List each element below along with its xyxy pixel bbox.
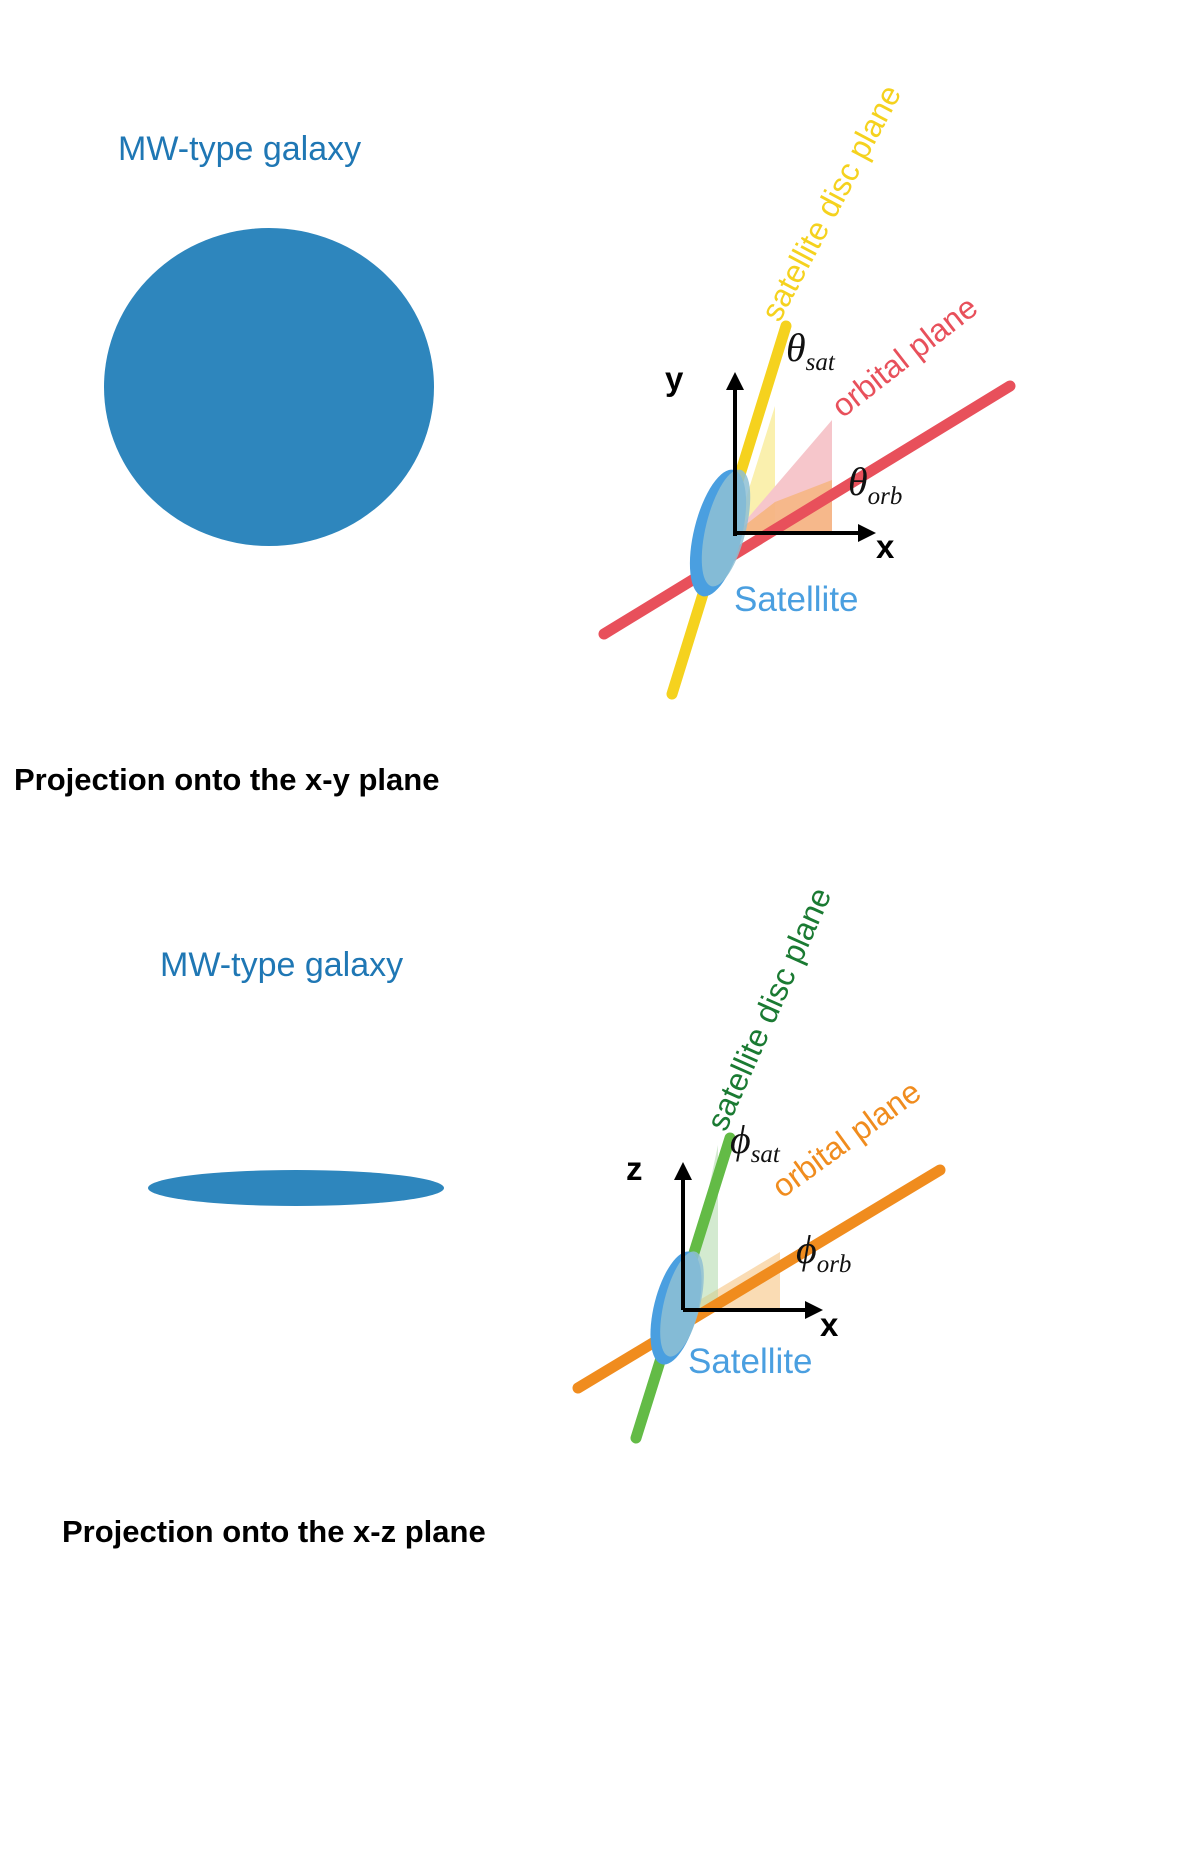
phi-sat-symbol: ϕsat [730, 1116, 780, 1169]
theta-orb-glyph: θ [848, 459, 868, 504]
x-axis-line-xy [735, 531, 860, 535]
phi-orb-glyph: ϕ [796, 1227, 817, 1272]
x-axis-arrowhead-xy [858, 524, 876, 542]
theta-orb-subscript: orb [868, 483, 903, 510]
theta-sat-symbol: θsat [786, 324, 835, 377]
caption-xy: Projection onto the x-y plane [14, 762, 439, 798]
x-axis-line-xz [683, 1308, 807, 1312]
satellite-label-xy: Satellite [734, 580, 859, 620]
z-axis-arrowhead [674, 1162, 692, 1180]
z-axis-line [681, 1178, 685, 1310]
y-axis-arrowhead [726, 372, 744, 390]
y-axis-label: y [665, 360, 683, 398]
panel-xz-projection: MW-type galaxy z x satellite disc plane … [0, 820, 1200, 1857]
y-axis-line [733, 388, 737, 536]
phi-sat-glyph: ϕ [730, 1117, 751, 1162]
panel-xy-projection: MW-type galaxy y x satellite disc plane … [0, 0, 1200, 900]
z-axis-label: z [626, 1150, 643, 1188]
satellite-label-xz: Satellite [688, 1342, 813, 1382]
theta-orb-symbol: θorb [848, 458, 902, 511]
x-axis-label-xz: x [820, 1306, 838, 1344]
phi-sat-subscript: sat [751, 1141, 780, 1168]
x-axis-label-xy: x [876, 528, 894, 566]
caption-xz: Projection onto the x-z plane [62, 1514, 486, 1550]
xz-wedges-layer [0, 820, 1200, 1857]
theta-sat-glyph: θ [786, 325, 806, 370]
phi-orb-subscript: orb [817, 1251, 852, 1278]
phi-orb-symbol: ϕorb [796, 1226, 851, 1279]
theta-sat-subscript: sat [806, 349, 835, 376]
